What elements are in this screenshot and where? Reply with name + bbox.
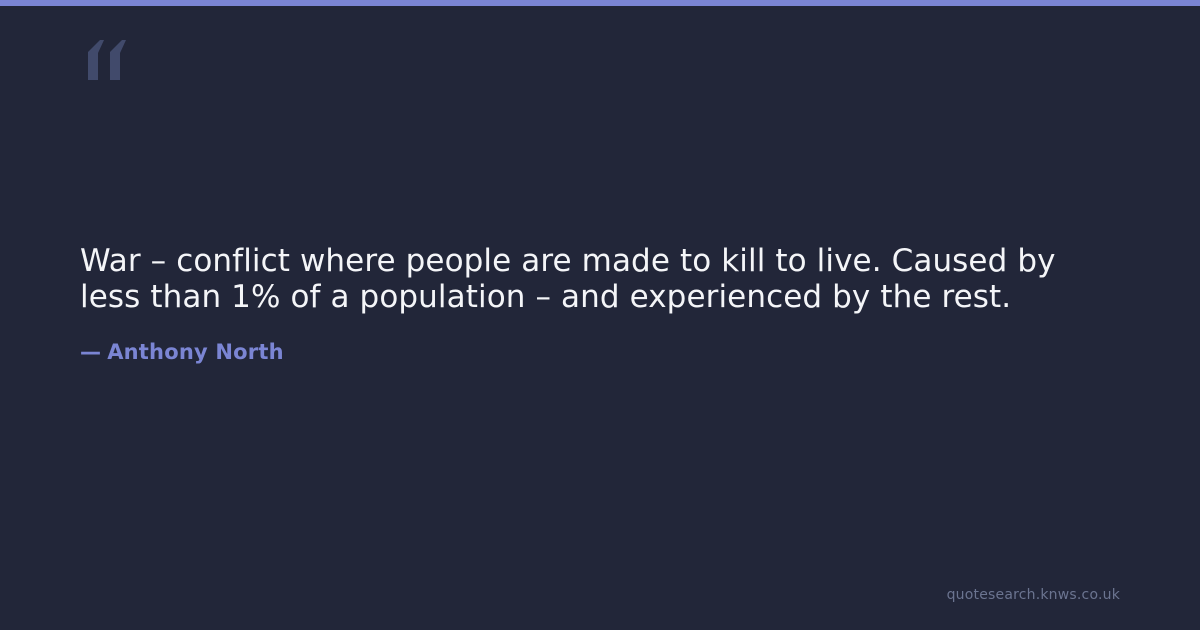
quote-text: War – conflict where people are made to …: [80, 243, 1100, 315]
quote-body: War – conflict where people are made to …: [80, 243, 1100, 365]
attribution-dash: —: [80, 340, 107, 364]
site-watermark: quotesearch.knws.co.uk: [947, 586, 1120, 604]
double-quote-open-icon: [80, 40, 132, 80]
quote-card: War – conflict where people are made to …: [0, 0, 1200, 630]
quote-attribution: —Anthony North: [80, 315, 1100, 365]
attribution-author: Anthony North: [107, 340, 284, 364]
top-accent-bar: [0, 0, 1200, 6]
